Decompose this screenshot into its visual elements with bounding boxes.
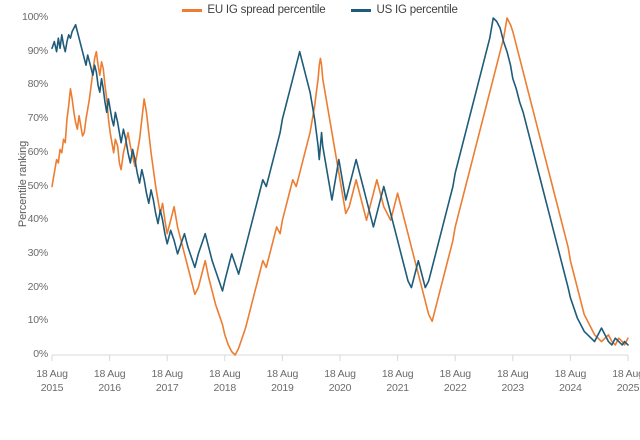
x-tick-label: 18 Aug2015 <box>22 367 82 395</box>
x-tick-label: 18 Aug2022 <box>425 367 485 395</box>
x-tick-line1: 18 Aug <box>382 368 414 380</box>
x-tick-label: 18 Aug2020 <box>310 367 370 395</box>
chart-container: EU IG spread percentile US IG percentile… <box>0 0 640 440</box>
x-tick-line2: 2019 <box>252 381 312 395</box>
x-tick-label: 18 Aug2025 <box>598 367 640 395</box>
x-tick-line2: 2018 <box>195 381 255 395</box>
x-tick-label: 18 Aug2018 <box>195 367 255 395</box>
x-tick-line1: 18 Aug <box>497 368 529 380</box>
x-tick-line2: 2025 <box>598 381 640 395</box>
x-tick-line1: 18 Aug <box>151 368 183 380</box>
x-axis-ticks: 18 Aug201518 Aug201618 Aug201718 Aug2018… <box>0 0 640 440</box>
x-tick-line1: 18 Aug <box>94 368 126 380</box>
x-tick-label: 18 Aug2019 <box>252 367 312 395</box>
x-tick-line2: 2023 <box>483 381 543 395</box>
x-tick-line1: 18 Aug <box>439 368 471 380</box>
x-tick-line2: 2017 <box>137 381 197 395</box>
x-tick-line1: 18 Aug <box>267 368 299 380</box>
x-tick-line2: 2015 <box>22 381 82 395</box>
x-tick-line2: 2022 <box>425 381 485 395</box>
x-tick-line2: 2021 <box>368 381 428 395</box>
x-tick-line1: 18 Aug <box>36 368 68 380</box>
x-tick-line1: 18 Aug <box>324 368 356 380</box>
x-tick-line2: 2016 <box>80 381 140 395</box>
x-tick-line1: 18 Aug <box>612 368 640 380</box>
x-tick-line1: 18 Aug <box>555 368 587 380</box>
x-tick-label: 18 Aug2021 <box>368 367 428 395</box>
x-tick-label: 18 Aug2017 <box>137 367 197 395</box>
x-tick-line2: 2024 <box>540 381 600 395</box>
x-tick-line1: 18 Aug <box>209 368 241 380</box>
x-tick-label: 18 Aug2023 <box>483 367 543 395</box>
x-tick-label: 18 Aug2024 <box>540 367 600 395</box>
x-tick-line2: 2020 <box>310 381 370 395</box>
x-tick-label: 18 Aug2016 <box>80 367 140 395</box>
